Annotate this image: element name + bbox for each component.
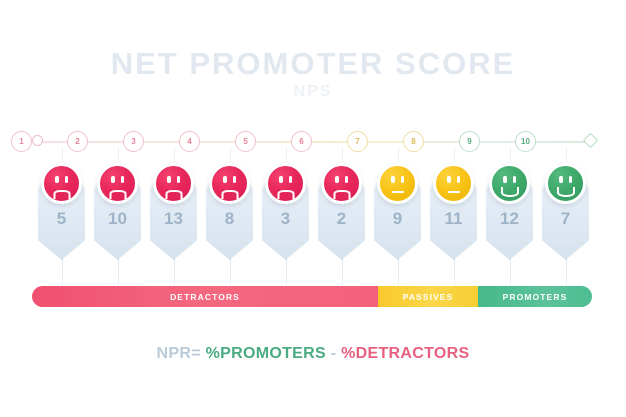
- happy-face-icon: [489, 163, 530, 204]
- face-eye: [391, 176, 394, 183]
- badge-count-1: 5: [38, 208, 85, 230]
- badge-count-3: 13: [150, 208, 197, 230]
- badge-count-8: 11: [430, 208, 477, 230]
- face-eyes: [156, 176, 191, 183]
- face-eye: [457, 176, 460, 183]
- scale-node-4[interactable]: 4: [179, 131, 200, 152]
- scale-node-7[interactable]: 7: [347, 131, 368, 152]
- face-eyes: [436, 176, 471, 183]
- badge-count-9: 12: [486, 208, 533, 230]
- badge-count-6: 2: [318, 208, 365, 230]
- badge-count-2: 10: [94, 208, 141, 230]
- face-mouth: [501, 187, 519, 197]
- face-eye: [121, 176, 124, 183]
- category-segment-detractors[interactable]: DETRACTORS: [32, 286, 378, 307]
- connector-bottom: [566, 258, 567, 286]
- connector-bottom: [342, 258, 343, 286]
- face-eyes: [268, 176, 303, 183]
- scale-node-9[interactable]: 9: [459, 131, 480, 152]
- connector-bottom: [174, 258, 175, 286]
- face-mouth: [392, 191, 404, 193]
- face-eye: [55, 176, 58, 183]
- scale-end-cap-icon: [583, 133, 599, 149]
- face-eyes: [212, 176, 247, 183]
- face-eye: [569, 176, 572, 183]
- formula-lhs: NPR=: [157, 345, 201, 362]
- connector-bottom: [118, 258, 119, 286]
- sad-face-icon: [153, 163, 194, 204]
- face-eye: [167, 176, 170, 183]
- page-subtitle: NPS: [0, 84, 626, 100]
- connector-bottom: [286, 258, 287, 286]
- happy-face-icon: [545, 163, 586, 204]
- formula-operator: -: [331, 345, 337, 362]
- category-bar: DETRACTORS PASSIVES PROMOTERS: [32, 286, 592, 307]
- face-mouth: [277, 190, 294, 199]
- connector-bottom: [230, 258, 231, 286]
- face-eyes: [548, 176, 583, 183]
- face-eyes: [44, 176, 79, 183]
- formula-detractors-term: %DETRACTORS: [341, 345, 469, 362]
- face-eye: [233, 176, 236, 183]
- face-mouth: [557, 187, 575, 197]
- face-eyes: [492, 176, 527, 183]
- face-eye: [335, 176, 338, 183]
- sad-face-icon: [209, 163, 250, 204]
- infographic-canvas: NET PROMOTER SCORE NPS 12345678910 DETRA…: [0, 0, 626, 417]
- scale-node-5[interactable]: 5: [235, 131, 256, 152]
- face-eyes: [100, 176, 135, 183]
- badge-count-10: 7: [542, 208, 589, 230]
- face-eye: [401, 176, 404, 183]
- face-eye: [279, 176, 282, 183]
- face-mouth: [109, 190, 126, 199]
- scale-node-2[interactable]: 2: [67, 131, 88, 152]
- category-segment-promoters[interactable]: PROMOTERS: [478, 286, 592, 307]
- face-eye: [513, 176, 516, 183]
- scale-node-6[interactable]: 6: [291, 131, 312, 152]
- face-mouth: [448, 191, 460, 193]
- face-mouth: [165, 190, 182, 199]
- sad-face-icon: [41, 163, 82, 204]
- scale-node-8[interactable]: 8: [403, 131, 424, 152]
- neutral-face-icon: [377, 163, 418, 204]
- face-mouth: [53, 190, 70, 199]
- face-eye: [111, 176, 114, 183]
- badge-count-4: 8: [206, 208, 253, 230]
- scale-node-10[interactable]: 10: [515, 131, 536, 152]
- scale-node-3[interactable]: 3: [123, 131, 144, 152]
- formula-promoters-term: %PROMOTERS: [206, 345, 326, 362]
- sad-face-icon: [265, 163, 306, 204]
- face-eye: [289, 176, 292, 183]
- connector-bottom: [398, 258, 399, 286]
- sad-face-icon: [321, 163, 362, 204]
- face-eyes: [380, 176, 415, 183]
- page-title: NET PROMOTER SCORE: [0, 48, 626, 79]
- face-eye: [177, 176, 180, 183]
- nps-formula: NPR= %PROMOTERS - %DETRACTORS: [0, 345, 626, 363]
- badge-count-5: 3: [262, 208, 309, 230]
- category-segment-passives[interactable]: PASSIVES: [378, 286, 478, 307]
- connector-bottom: [454, 258, 455, 286]
- face-eye: [503, 176, 506, 183]
- badge-count-7: 9: [374, 208, 421, 230]
- scale-start-cap-icon: [32, 135, 43, 146]
- neutral-face-icon: [433, 163, 474, 204]
- face-eye: [447, 176, 450, 183]
- face-eye: [345, 176, 348, 183]
- face-eye: [559, 176, 562, 183]
- sad-face-icon: [97, 163, 138, 204]
- face-eye: [65, 176, 68, 183]
- connector-bottom: [510, 258, 511, 286]
- scale-node-1[interactable]: 1: [11, 131, 32, 152]
- face-eye: [223, 176, 226, 183]
- face-mouth: [221, 190, 238, 199]
- face-mouth: [333, 190, 350, 199]
- score-scale: 12345678910: [0, 125, 626, 159]
- face-eyes: [324, 176, 359, 183]
- connector-bottom: [62, 258, 63, 286]
